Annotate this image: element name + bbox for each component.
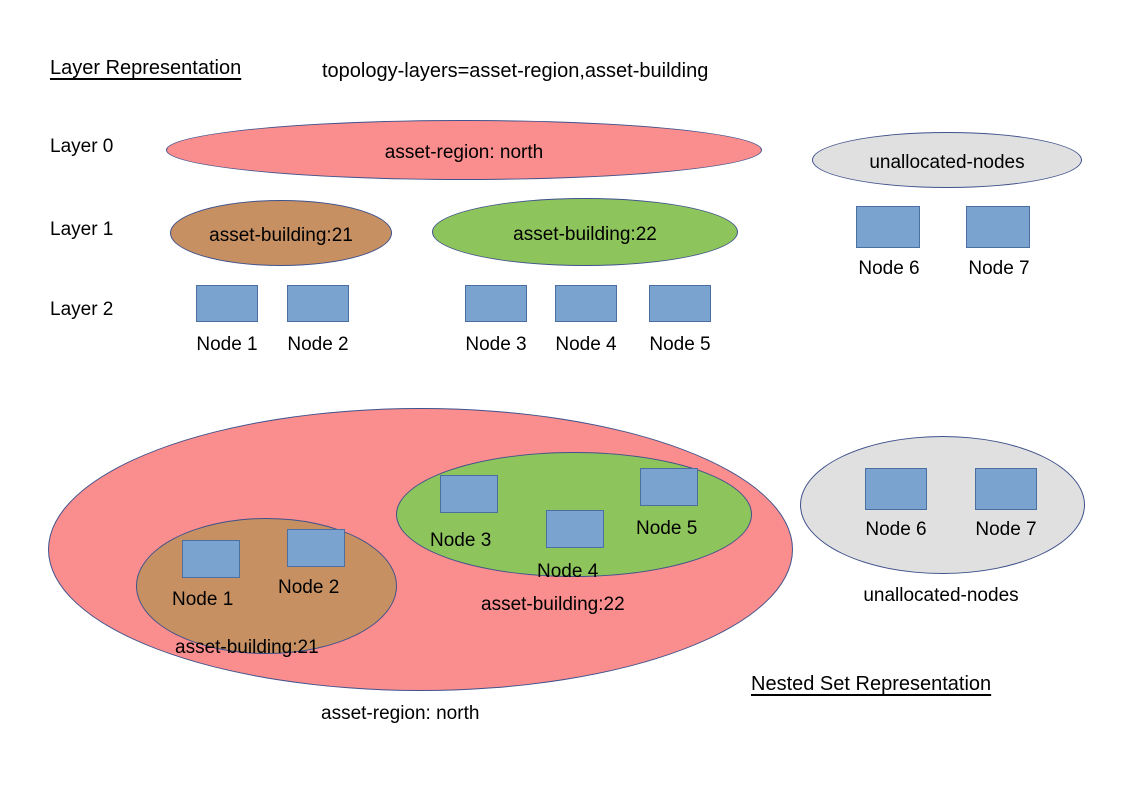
- nested-node-4-rect[interactable]: [546, 510, 604, 548]
- layer-node-5-rect[interactable]: [649, 285, 711, 322]
- layer-0-label: Layer 0: [50, 137, 113, 156]
- nested-unallocated-ellipse[interactable]: [800, 436, 1085, 574]
- layer-unallocated-ellipse[interactable]: unallocated-nodes: [812, 132, 1082, 188]
- nested-unallocated-label: unallocated-nodes: [863, 586, 1018, 605]
- nested-set-representation-heading: Nested Set Representation: [751, 674, 991, 694]
- nested-building22-label: asset-building:22: [481, 595, 625, 614]
- layer-node-4-rect[interactable]: [555, 285, 617, 322]
- diagram-canvas: Layer Representation topology-layers=ass…: [0, 0, 1123, 794]
- nested-node-2-rect[interactable]: [287, 529, 345, 567]
- layer-node-3-label: Node 3: [465, 335, 526, 354]
- topology-layers-parameter: topology-layers=asset-region,asset-build…: [322, 61, 708, 81]
- nested-node-4-label: Node 4: [537, 562, 598, 581]
- nested-node-1-label: Node 1: [172, 590, 233, 609]
- nested-node-6-label: Node 6: [865, 520, 926, 539]
- nested-node-2-label: Node 2: [278, 578, 339, 597]
- layer-unallocated-label: unallocated-nodes: [813, 152, 1081, 174]
- layer-node-3-rect[interactable]: [465, 285, 527, 322]
- layer-building21-ellipse[interactable]: asset-building:21: [170, 200, 392, 266]
- layer-representation-heading: Layer Representation: [50, 58, 241, 78]
- layer-node-7-label: Node 7: [968, 259, 1029, 278]
- nested-node-6-rect[interactable]: [865, 468, 927, 510]
- nested-node-7-rect[interactable]: [975, 468, 1037, 510]
- nested-building21-label: asset-building:21: [175, 638, 319, 657]
- layer-node-4-label: Node 4: [555, 335, 616, 354]
- layer-building22-label: asset-building:22: [433, 224, 737, 246]
- nested-node-3-rect[interactable]: [440, 475, 498, 513]
- nested-building21-ellipse[interactable]: [136, 518, 397, 654]
- layer-node-1-label: Node 1: [196, 335, 257, 354]
- layer-node-1-rect[interactable]: [196, 285, 258, 322]
- nested-node-7-label: Node 7: [975, 520, 1036, 539]
- layer-node-5-label: Node 5: [649, 335, 710, 354]
- layer-region-ellipse[interactable]: asset-region: north: [166, 120, 762, 180]
- layer-node-2-label: Node 2: [287, 335, 348, 354]
- layer-node-6-label: Node 6: [858, 259, 919, 278]
- nested-node-3-label: Node 3: [430, 531, 491, 550]
- layer-node-6-rect[interactable]: [856, 206, 920, 248]
- nested-node-1-rect[interactable]: [182, 540, 240, 578]
- nested-node-5-rect[interactable]: [640, 468, 698, 506]
- nested-node-5-label: Node 5: [636, 519, 697, 538]
- layer-1-label: Layer 1: [50, 220, 113, 239]
- nested-region-label: asset-region: north: [321, 704, 479, 723]
- layer-2-label: Layer 2: [50, 300, 113, 319]
- layer-node-2-rect[interactable]: [287, 285, 349, 322]
- layer-building22-ellipse[interactable]: asset-building:22: [432, 198, 738, 266]
- layer-node-7-rect[interactable]: [966, 206, 1030, 248]
- layer-building21-label: asset-building:21: [171, 225, 391, 247]
- layer-region-label: asset-region: north: [167, 142, 761, 164]
